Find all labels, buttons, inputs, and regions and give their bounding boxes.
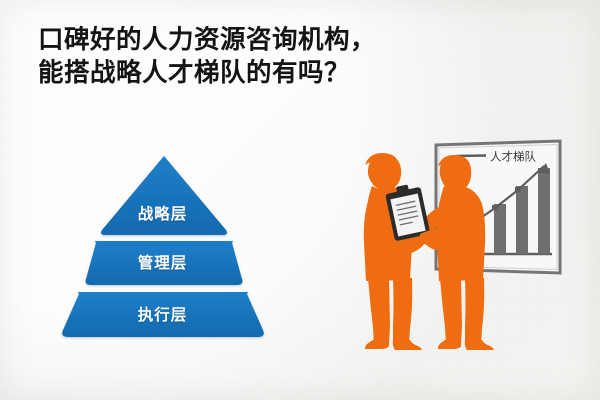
consultant-leg-right [393,278,412,346]
client-shoe-right [465,340,494,350]
legend-label: 人才梯队 [490,150,536,164]
chart-marker-3 [492,205,498,211]
chart-bar-4 [516,186,528,254]
pyramid-diagram: 战略层 管理层 执行层 [50,152,275,342]
client-leg-right [465,278,484,346]
chart-bar-3 [494,204,506,254]
consultant-leg-left [368,278,390,345]
headline-line-2: 能搭战略人才梯队的有吗？ [38,57,468,90]
chart-bar-5 [538,168,550,254]
illustration-svg: 人才梯队 [320,130,580,360]
headline-line-1: 口碑好的人力资源咨询机构， [38,24,468,57]
consultant-shoe-left [365,340,389,349]
pyramid-label-execution: 执行层 [50,303,275,325]
page-title: 口碑好的人力资源咨询机构， 能搭战略人才梯队的有吗？ [38,24,468,90]
poster-canvas: 口碑好的人力资源咨询机构， 能搭战略人才梯队的有吗？ 战略层 管理层 执行层 [0,0,600,400]
consultant-shoe-right [393,340,422,350]
client-shoe-left [438,340,461,349]
chart-marker-4 [515,187,521,193]
illustration-scene: 人才梯队 [320,130,580,360]
pyramid-label-management: 管理层 [50,251,275,273]
client-leg-left [440,278,462,345]
pyramid-label-strategy: 战略层 [50,202,275,224]
